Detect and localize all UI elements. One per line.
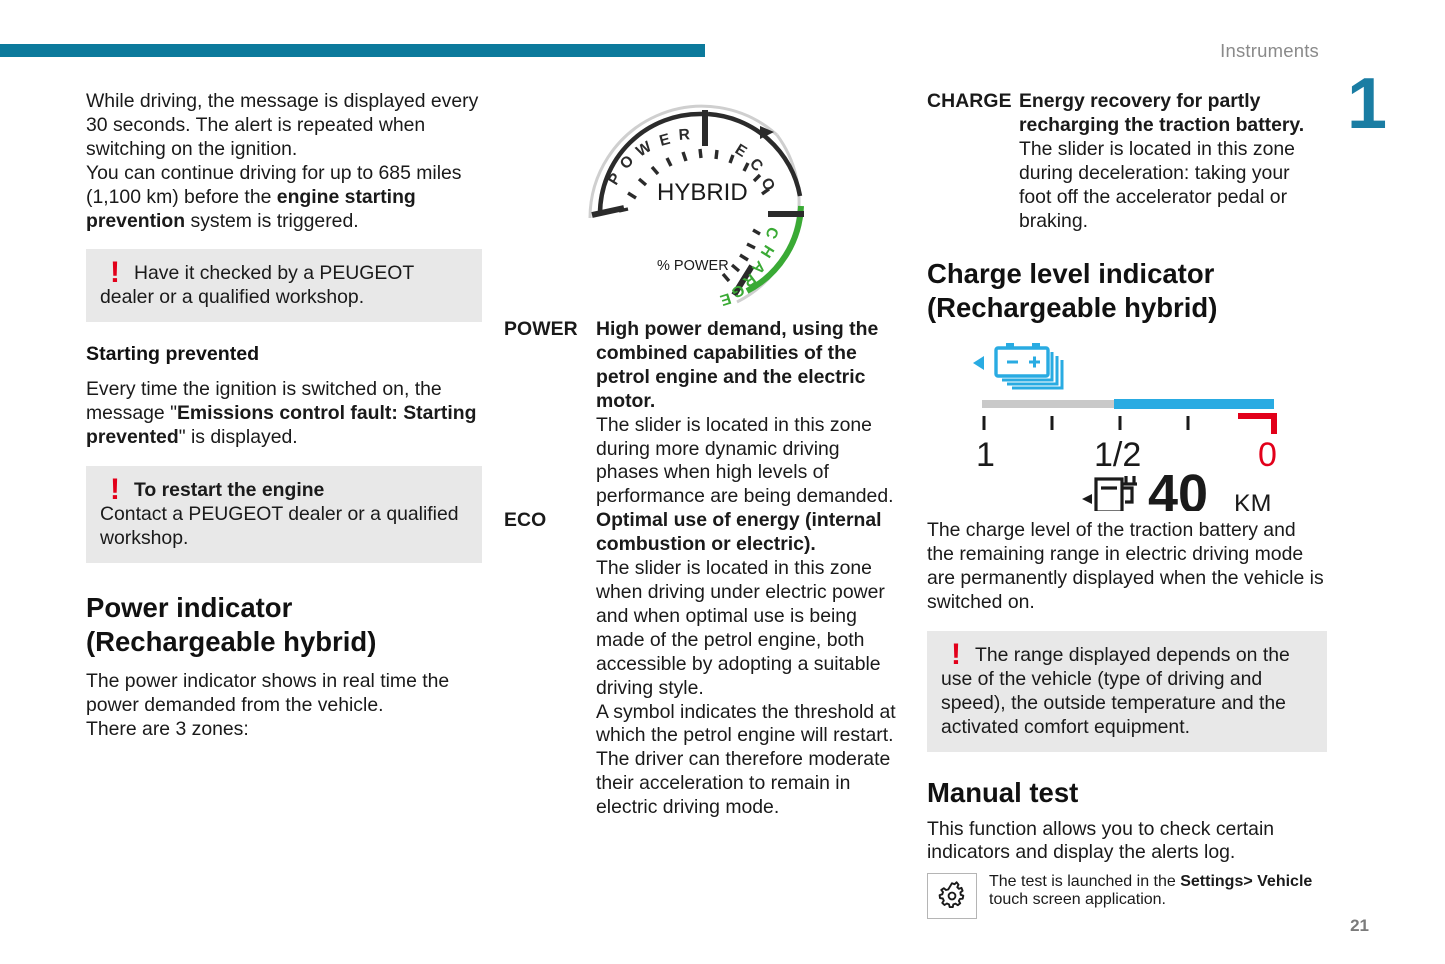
starting-text-c: " is displayed. <box>179 426 298 448</box>
battery-stack-icon <box>973 345 1062 388</box>
range-value: 40 <box>1148 464 1208 511</box>
definition-desc-charge: Energy recovery for partly recharging th… <box>1019 90 1327 233</box>
page-number: 21 <box>1350 916 1369 936</box>
svg-text:P: P <box>605 170 625 188</box>
definition-term-eco: ECO <box>504 509 596 533</box>
warning-box-restart-engine-text: To restart the engineContact a PEUGEOT d… <box>100 478 468 550</box>
page-header-title: Instruments <box>1220 40 1319 62</box>
manual-note-bold: Settings> Vehicle <box>1180 873 1312 890</box>
charge-level-indicator-graphic: 1 1/2 0 40 KM <box>927 336 1327 511</box>
left-arrow-icon <box>973 356 984 370</box>
definition-row-charge: CHARGE Energy recovery for partly rechar… <box>927 90 1327 233</box>
hybrid-gauge-svg: P O W E R E C O C H A R G E HYBRID <box>572 90 832 310</box>
manual-test-note-text: The test is launched in the Settings> Ve… <box>989 873 1327 909</box>
manual-test-paragraph: This function allows you to check certai… <box>927 818 1327 866</box>
definition-desc-eco: Optimal use of energy (internal combusti… <box>596 509 900 820</box>
warning-exclamation-icon: ! <box>100 261 134 285</box>
svg-text:W: W <box>633 138 655 160</box>
power-indicator-paragraph-1: The power indicator shows in real time t… <box>86 670 482 718</box>
svg-text:R: R <box>678 126 690 144</box>
svg-text:C: C <box>746 155 766 175</box>
warning-exclamation-icon: ! <box>941 643 975 667</box>
charge-scale-label-empty: 0 <box>1258 436 1277 474</box>
charge-level-paragraph: The charge level of the traction battery… <box>927 519 1327 615</box>
definition-eco-body-2: A symbol indicates the threshold at whic… <box>596 701 896 819</box>
warning-box-restart-engine: ! To restart the engineContact a PEUGEOT… <box>86 466 482 563</box>
right-column: CHARGE Energy recovery for partly rechar… <box>927 90 1327 919</box>
charge-bar-empty-track <box>982 400 1114 408</box>
gauge-center-label: HYBRID <box>657 179 748 206</box>
header-accent-rule <box>0 44 705 57</box>
charge-scale-ticks <box>984 416 1188 430</box>
definition-term-power: POWER <box>504 318 596 342</box>
intro-paragraph-2: You can continue driving for up to 685 m… <box>86 162 482 234</box>
svg-text:H: H <box>757 242 777 261</box>
definition-power-bold: High power demand, using the combined ca… <box>596 318 878 412</box>
charge-scale-label-half: 1/2 <box>1094 436 1141 474</box>
svg-text:E: E <box>658 131 672 150</box>
warning-box-range-depends: ! The range displayed depends on the use… <box>927 631 1327 752</box>
definition-row-eco: ECO Optimal use of energy (internal comb… <box>504 509 900 820</box>
definition-eco-body-1: The slider is located in this zone when … <box>596 557 885 699</box>
heading-charge-level-indicator: Charge level indicator(Rechargeable hybr… <box>927 257 1327 324</box>
heading-manual-test: Manual test <box>927 776 1327 810</box>
gauge-unit-label: % POWER <box>657 258 729 274</box>
left-column: While driving, the message is displayed … <box>86 90 482 742</box>
definition-term-charge: CHARGE <box>927 90 1019 114</box>
definition-charge-body: The slider is located in this zone durin… <box>1019 138 1295 232</box>
heading-power-indicator: Power indicator(Rechargeable hybrid) <box>86 591 482 658</box>
charge-level-svg: 1 1/2 0 40 KM <box>962 336 1292 511</box>
manual-note-text-c: touch screen application. <box>989 891 1166 908</box>
range-unit: KM <box>1234 490 1272 511</box>
warning-box-range-text: The range displayed depends on the use o… <box>941 643 1313 739</box>
definition-desc-power: High power demand, using the combined ca… <box>596 318 900 509</box>
settings-gear-icon-frame <box>927 873 977 919</box>
svg-text:E: E <box>718 289 733 308</box>
chapter-number: 1 <box>1347 74 1387 135</box>
starting-prevented-paragraph: Every time the ignition is switched on, … <box>86 378 482 450</box>
power-zone-definitions: POWER High power demand, using the combi… <box>504 318 900 820</box>
heading-power-indicator-line2: (Rechargeable hybrid) <box>86 626 376 657</box>
definition-row-power: POWER High power demand, using the combi… <box>504 318 900 509</box>
middle-column: P O W E R E C O C H A R G E HYBRID <box>504 90 900 820</box>
svg-text:E: E <box>732 141 750 161</box>
range-arrow-icon <box>1082 494 1092 504</box>
definition-power-body: The slider is located in this zone durin… <box>596 414 894 508</box>
hybrid-power-gauge-graphic: P O W E R E C O C H A R G E HYBRID <box>504 90 900 310</box>
definition-charge-bold: Energy recovery for partly recharging th… <box>1019 90 1304 136</box>
warning-restart-body: Contact a PEUGEOT dealer or a qualified … <box>100 503 459 549</box>
charging-station-icon <box>1082 476 1137 511</box>
charge-bar-fill <box>1114 399 1274 409</box>
heading-starting-prevented: Starting prevented <box>86 342 482 366</box>
heading-charge-level-line1: Charge level indicator <box>927 258 1214 289</box>
power-indicator-paragraph-2: There are 3 zones: <box>86 718 482 742</box>
heading-power-indicator-line1: Power indicator <box>86 592 292 623</box>
manual-note-text-a: The test is launched in the <box>989 873 1180 890</box>
charge-scale-label-full: 1 <box>976 436 995 474</box>
intro-paragraph-1: While driving, the message is displayed … <box>86 90 482 162</box>
warning-box-dealer-check-text: Have it checked by a PEUGEOT dealer or a… <box>100 261 468 309</box>
svg-text:C: C <box>762 225 782 241</box>
warning-exclamation-icon: ! <box>100 478 134 502</box>
intro-p2-text-c: system is triggered. <box>185 210 359 232</box>
heading-charge-level-line2: (Rechargeable hybrid) <box>927 292 1217 323</box>
warning-restart-title: To restart the engine <box>134 479 324 501</box>
manual-test-note: The test is launched in the Settings> Ve… <box>927 873 1327 919</box>
warning-box-dealer-check: ! Have it checked by a PEUGEOT dealer or… <box>86 249 482 322</box>
svg-text:O: O <box>757 175 778 193</box>
charge-reserve-bracket <box>1238 416 1274 434</box>
definition-eco-bold: Optimal use of energy (internal combusti… <box>596 509 882 555</box>
gear-icon <box>935 879 969 913</box>
